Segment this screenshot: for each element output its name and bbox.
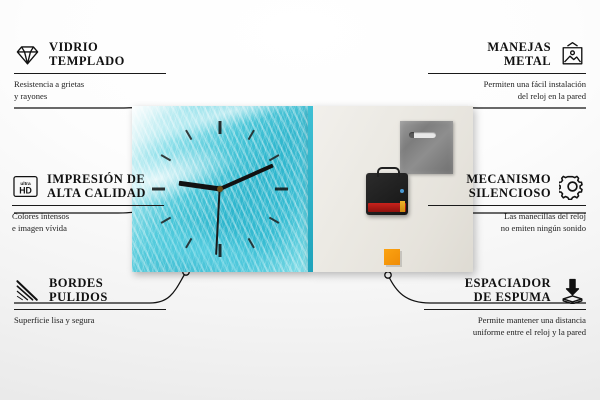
feature-espaciador: ESPACIADOR DE ESPUMA Permite mantener un… [424,276,586,338]
down-arrow-layers-icon [559,277,586,304]
feature-rule [14,309,166,310]
feature-title: BORDES PULIDOS [49,276,108,304]
clock-tick [219,121,222,134]
svg-text:HD: HD [19,185,32,195]
clock-tick [248,130,255,141]
clock-tick [275,188,288,191]
feature-title: MECANISMO SILENCIOSO [466,172,551,200]
feature-impresion: ultra HD IMPRESIÓN DE ALTA CALIDAD Color… [12,172,164,234]
feature-rule [14,73,166,74]
panel-edge-strip [308,106,313,272]
feature-mecanismo: MECANISMO SILENCIOSO Las manecillas del … [428,172,586,234]
diamond-icon [14,41,41,68]
gear-icon [559,173,586,200]
feature-bordes: BORDES PULIDOS Superficie lisa y segura [14,276,166,327]
feature-rule [428,73,586,74]
clock-tick [269,217,280,224]
feature-desc: Permite mantener una distancia uniforme … [424,315,586,338]
connector-dot-espaciador [385,272,391,278]
battery [368,203,406,212]
feature-rule [12,205,164,206]
clock-tick [161,154,172,161]
feature-title: MANEJAS METAL [487,40,551,68]
feature-desc: Permiten una fácil instalación del reloj… [428,79,586,102]
clock-tick [248,238,255,249]
feature-title: ESPACIADOR DE ESPUMA [465,276,551,304]
clock-tick [269,154,280,161]
feature-desc: Las manecillas del reloj no emiten ningú… [428,211,586,234]
clock-center-hub [217,186,223,192]
hanger-plate [400,121,453,174]
clock-tick [185,130,192,141]
feature-manejas: MANEJAS METAL Permiten una fácil instala… [428,40,586,102]
feature-title: IMPRESIÓN DE ALTA CALIDAD [47,172,146,200]
hanger-slot [409,132,436,138]
movement-hanger-tab [377,167,400,177]
feature-desc: Resistencia a grietas y rayones [14,79,166,102]
foam-spacer [384,249,400,265]
feature-rule [428,205,586,206]
clock-movement [366,173,408,215]
feature-desc: Superficie lisa y segura [14,315,166,327]
clock-tick [219,244,222,257]
movement-indicator [400,189,404,193]
ultra-hd-icon: ultra HD [12,173,39,200]
feature-vidrio: VIDRIO TEMPLADO Resistencia a grietas y … [14,40,166,102]
infographic-stage: VIDRIO TEMPLADO Resistencia a grietas y … [0,0,600,400]
polished-edges-icon [14,277,41,304]
feature-desc: Colores intensos e imagen vívida [12,211,164,234]
feature-rule [424,309,586,310]
picture-frame-hook-icon [559,41,586,68]
feature-title: VIDRIO TEMPLADO [49,40,125,68]
clock-tick [185,238,192,249]
